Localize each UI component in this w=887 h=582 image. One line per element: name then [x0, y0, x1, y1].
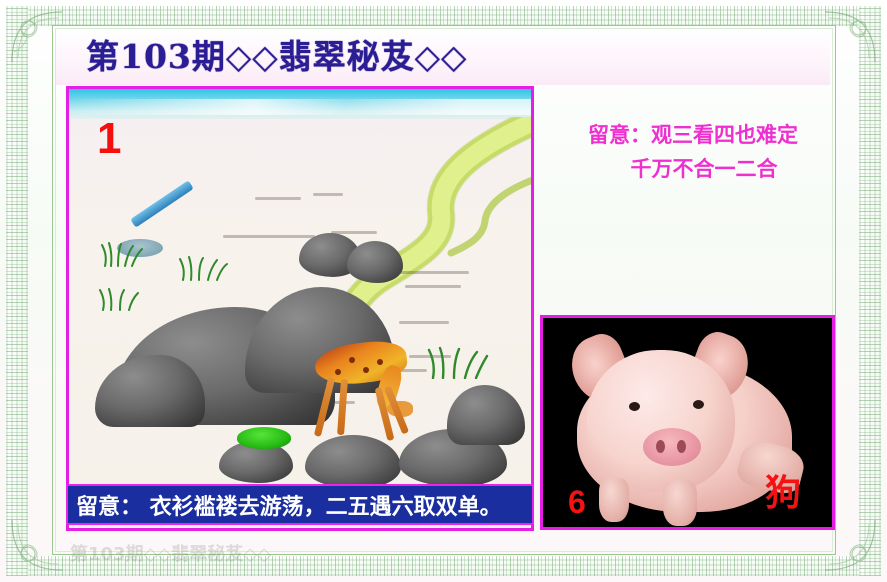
- border-left: [6, 6, 28, 576]
- pig-leg-front-right: [663, 480, 697, 526]
- caption-bar: 留意： 衣衫褴褛去游荡，二五遇六取双单。: [66, 484, 534, 525]
- green-turtle-icon: [237, 427, 291, 449]
- pig-head: [587, 350, 735, 492]
- spotted-deer-figure: [305, 343, 425, 443]
- page-title: 第103期◇◇翡翠秘芨◇◇: [86, 30, 467, 78]
- grass-tuft-icon: [177, 255, 229, 281]
- grass-tuft-icon: [97, 287, 145, 311]
- poster-page: 第103期◇◇翡翠秘芨◇◇: [0, 0, 887, 582]
- zodiac-photo-panel[interactable]: 6 狗: [540, 315, 835, 530]
- faint-mark: [255, 197, 301, 200]
- side-note-line-1: 留意：观三看四也难定: [548, 118, 838, 152]
- faint-mark: [223, 235, 315, 238]
- grass-tuft-icon: [425, 345, 489, 379]
- pig-nostril-right: [677, 440, 686, 453]
- pig-snout: [643, 428, 701, 466]
- watermark-text: 第103期◇◇翡翠秘芨◇◇: [70, 540, 540, 564]
- deer-leg: [337, 379, 348, 435]
- border-right: [859, 6, 881, 576]
- pig-panel-number-label: 6: [568, 486, 586, 518]
- pig-eye-right: [693, 400, 704, 409]
- faint-mark: [313, 193, 343, 196]
- border-top: [6, 6, 881, 26]
- side-note: 留意：观三看四也难定 千万不合一二合: [548, 118, 838, 186]
- illustration-number-label: 1: [97, 117, 121, 161]
- pig-leg-front-left: [599, 478, 629, 522]
- rock: [347, 241, 403, 283]
- caption-text: 留意： 衣衫褴褛去游荡，二五遇六取双单。: [68, 489, 502, 521]
- deer-spot: [363, 367, 369, 373]
- faint-mark: [397, 271, 469, 274]
- deer-spot: [349, 357, 355, 363]
- illustration-panel[interactable]: 1: [66, 86, 534, 531]
- pig-panel-zodiac-label: 狗: [765, 476, 801, 512]
- grass-tuft-icon: [99, 241, 145, 267]
- deer-spot: [377, 359, 383, 365]
- deer-spot: [335, 369, 341, 375]
- pig-eye-left: [629, 402, 640, 411]
- side-note-line-2: 千万不合一二合: [548, 152, 838, 186]
- pig-nostril-left: [656, 440, 665, 453]
- faint-mark: [405, 285, 461, 288]
- faint-mark: [399, 321, 449, 324]
